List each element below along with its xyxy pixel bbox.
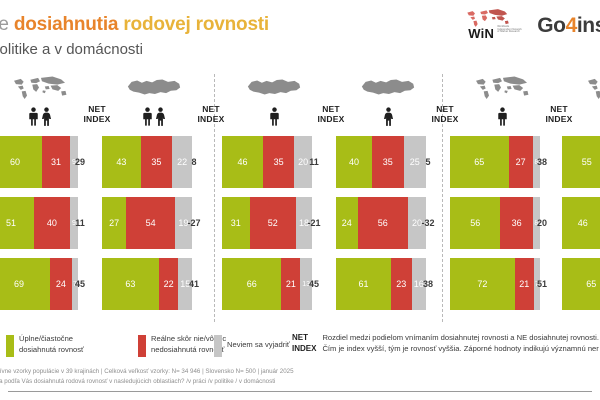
net-index-value: 5 [411,136,445,188]
slide-header: manie dosiahnutia rodovej rovnosti aci, … [0,0,600,70]
net-index-key-line1: NET [292,332,316,343]
net-index-body: Rozdiel medzi podielom vnímaním dosiahnu… [322,332,598,354]
net-index-value: -32 [411,197,445,249]
bar-segment-red: 54 [126,197,175,249]
net-index-value: 41 [177,258,211,310]
footer-line-1: prezentatívne vzorky populácie v 39 kraj… [0,368,294,375]
bar-segment-red: 35 [141,136,173,188]
legend-swatch-green [6,335,14,357]
male-person-icon [142,107,153,126]
legend-swatch-red [138,335,146,357]
legend-item-0: Úplne/čiastočne dosiahnutá rovnosť [6,334,126,357]
footer-rule [8,391,592,392]
net-index-value: 38 [411,258,445,310]
bar-segment-red: 35 [263,136,294,188]
net-index-key: NET INDEX [292,332,316,354]
female-person-icon [41,107,52,126]
bar-segment-red: 52 [250,197,296,249]
slovakia-map-icon [360,76,416,98]
bar-segment-green: 55 [562,136,600,188]
bar-segment-green: 27 [102,197,126,249]
page-title: manie dosiahnutia rodovej rovnosti [0,14,269,36]
bar-segment-red: 56 [358,197,408,249]
net-index-body-line1: Rozdiel medzi podielom vnímaním dosiahnu… [322,332,598,343]
net-index-value: 45 [63,258,97,310]
bar-segment-green: 46 [222,136,263,188]
male-person-icon [28,107,39,126]
net-index-value: 45 [297,258,331,310]
net-index-value: -27 [177,197,211,249]
chart-panel-global-women [562,74,600,128]
logo-group: WiN Worldwide Independent Network of Mar… [461,8,600,44]
stacked-bar: 464410 [562,197,600,249]
win-sub-line3: of Market Research [497,31,533,34]
net-index-value: -21 [297,197,331,249]
female-person-icon [383,107,394,126]
bar-segment-red: 35 [372,136,404,188]
legend-label-0-line1: Úplne/čiastočne [19,334,84,345]
page-subtitle: aci, v politike a v domácnosti [0,41,143,58]
panel-audience-icons-female [562,100,600,128]
title-part-orange: dosiahnutia [14,14,118,35]
bar-segment-green: 65 [450,136,509,188]
go4insight-number: 4 [566,14,577,37]
bar-segment-green: 72 [450,258,515,310]
bar-segment-green: 63 [102,258,159,310]
bar-segment-green: 61 [336,258,391,310]
net-index-explanation: NET INDEX Rozdiel medzi podielom vnímaní… [292,332,599,354]
slovakia-map-icon [246,76,302,98]
male-person-icon [269,107,280,126]
go4insight-post: ins [577,14,600,37]
bar-segment-green: 65 [562,258,600,310]
world-map-icon [473,75,531,100]
chart-legend: Úplne/čiastočne dosiahnutá rovnosť Reáln… [0,330,600,364]
net-index-value: 11 [297,136,331,188]
win-logo: WiN Worldwide Independent Network of Mar… [461,8,523,44]
bar-segment-green: 40 [336,136,372,188]
go4insight-logo: Go4ins [537,14,600,38]
net-index-value: 20 [525,197,559,249]
net-index-key-line2: INDEX [292,343,316,354]
win-logo-subtitle: Worldwide Independent Network of Market … [497,26,533,34]
legend-label-2: Neviem sa vyjadriť [227,334,290,351]
legend-swatch-grey [214,335,222,357]
bar-segment-green: 43 [102,136,141,188]
legend-label-0: Úplne/čiastočne dosiahnutá rovnosť [19,334,84,355]
legend-label-0-line2: dosiahnutá rovnosť [19,345,84,356]
world-map-icon [11,75,69,100]
title-part-yellow: rodovej rovnosti [123,14,269,35]
net-index-value: 38 [525,136,559,188]
bar-segment-red: 22 [159,258,179,310]
bar-segment-green: 56 [450,197,500,249]
bar-segment-green: 60 [0,136,42,188]
bar-segment-green: 46 [562,197,600,249]
bar-segment-green: 51 [0,197,34,249]
win-logo-text: WiN [468,26,494,41]
world-map-icon [585,75,600,100]
panel-scope-map-slovakia [222,74,326,100]
footer-line-2: miery bola podľa Vás dosiahnutá rodová r… [0,378,275,385]
panel-scope-map-world [562,74,600,100]
stacked-bar: 553510 [562,136,600,188]
stacked-bar: 65278 [562,258,600,310]
net-index-value: 8 [177,136,211,188]
female-person-icon [155,107,166,126]
title-part-light: manie [0,14,9,35]
male-person-icon [497,107,508,126]
bar-segment-green: 31 [222,197,250,249]
panel-scope-map-slovakia [336,74,440,100]
net-index-value: 51 [525,258,559,310]
slovakia-map-icon [126,76,182,98]
panel-scope-map-world [0,74,92,100]
net-index-value: 11 [63,197,97,249]
panel-scope-map-world [450,74,554,100]
chart-panels: NETINDEX603192951409116924745 NETINDEX43… [0,74,600,322]
net-index-value: 29 [63,136,97,188]
go4insight-pre: Go [537,14,565,37]
bar-segment-green: 69 [0,258,50,310]
legend-item-2: Neviem sa vyjadriť [214,334,290,357]
panel-scope-map-slovakia [102,74,206,100]
bar-segment-green: 66 [222,258,281,310]
net-index-body-line2: Čím je index vyšší, tým je rovnosť vyšši… [322,343,598,354]
bar-segment-red: 23 [391,258,412,310]
bar-segment-green: 24 [336,197,358,249]
